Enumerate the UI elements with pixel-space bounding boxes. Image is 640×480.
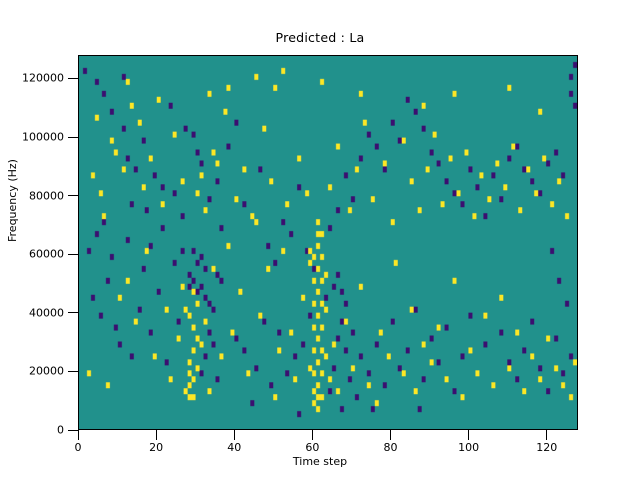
y-tick-label: 0 bbox=[57, 424, 64, 437]
spectrogram-axes[interactable] bbox=[78, 55, 578, 430]
x-tick-label: 20 bbox=[149, 441, 163, 454]
x-tick-label: 80 bbox=[384, 441, 398, 454]
y-tick-label: 100000 bbox=[22, 131, 64, 144]
y-tick-label: 20000 bbox=[29, 365, 64, 378]
spectrogram-heatmap[interactable] bbox=[79, 56, 577, 429]
x-tick-label: 120 bbox=[536, 441, 557, 454]
y-axis bbox=[78, 55, 79, 430]
x-tick-label: 40 bbox=[227, 441, 241, 454]
x-tick-mark bbox=[156, 430, 157, 440]
x-tick-label: 100 bbox=[458, 441, 479, 454]
x-tick-mark bbox=[78, 430, 79, 440]
y-tick-mark bbox=[68, 430, 78, 431]
y-tick-mark bbox=[68, 254, 78, 255]
y-tick-label: 120000 bbox=[22, 72, 64, 85]
x-axis-label: Time step bbox=[0, 455, 640, 468]
chart-title: Predicted : La bbox=[0, 30, 640, 45]
y-tick-label: 40000 bbox=[29, 306, 64, 319]
y-tick-mark bbox=[68, 137, 78, 138]
y-tick-mark bbox=[68, 371, 78, 372]
y-tick-mark bbox=[68, 78, 78, 79]
y-tick-label: 80000 bbox=[29, 189, 64, 202]
x-tick-mark bbox=[390, 430, 391, 440]
x-tick-mark bbox=[468, 430, 469, 440]
y-axis-label: Frequency (Hz) bbox=[6, 159, 19, 242]
x-tick-mark bbox=[312, 430, 313, 440]
x-tick-mark bbox=[546, 430, 547, 440]
y-tick-mark bbox=[68, 312, 78, 313]
x-tick-label: 60 bbox=[305, 441, 319, 454]
x-tick-mark bbox=[234, 430, 235, 440]
x-tick-label: 0 bbox=[75, 441, 82, 454]
y-tick-label: 60000 bbox=[29, 248, 64, 261]
y-tick-mark bbox=[68, 195, 78, 196]
y-axis-tick-labels: 020000400006000080000100000120000 bbox=[0, 55, 78, 430]
figure-canvas: Predicted : La 0200004000060000800001000… bbox=[0, 0, 640, 480]
